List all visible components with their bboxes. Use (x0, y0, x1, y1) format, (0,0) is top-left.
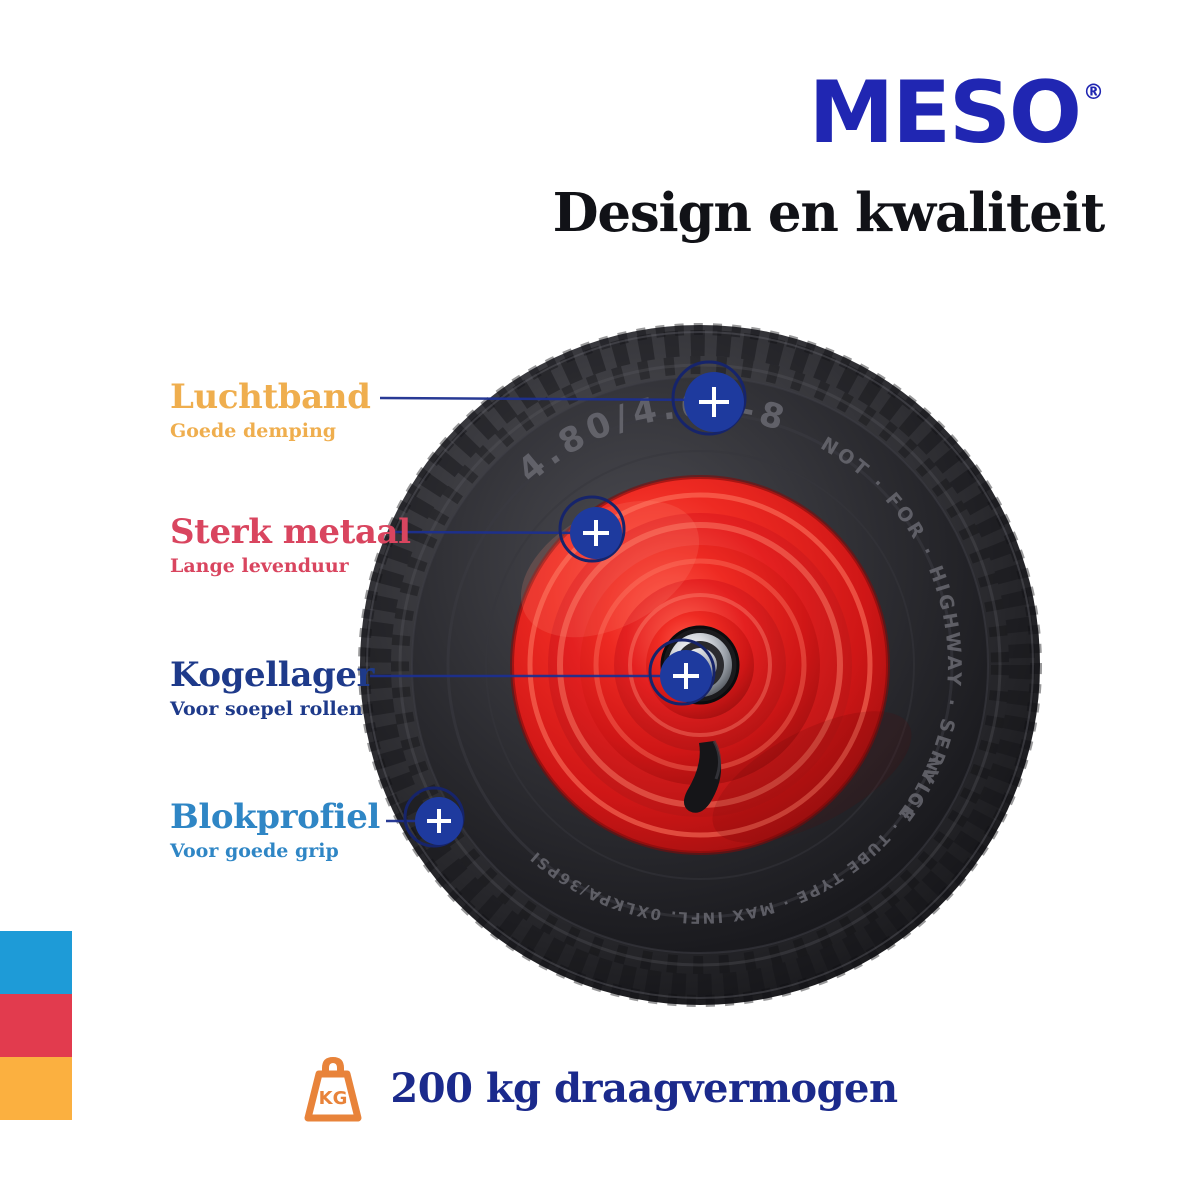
weight-icon: KG (302, 1052, 364, 1124)
feature-callout-blokprofiel: Blokprofiel Voor goede grip (0, 800, 400, 862)
connector-line-luchtband (380, 398, 712, 400)
connector-lines (370, 398, 712, 821)
feature-callout-sterk-metaal: Sterk metaal Lange levenduur (0, 515, 400, 577)
connector-line-sterk-metaal (395, 532, 596, 533)
plus-marker-sterk-metaal[interactable] (560, 497, 624, 561)
weight-icon-label: KG (319, 1088, 348, 1109)
swatch-blue (0, 931, 72, 994)
plus-marker-luchtband[interactable] (673, 362, 745, 434)
swatch-red (0, 994, 72, 1057)
feature-title: Kogellager (170, 658, 400, 693)
feature-title: Sterk metaal (170, 515, 400, 550)
plus-marker-blokprofiel[interactable] (405, 788, 463, 846)
plus-markers (405, 362, 745, 846)
capacity-bar: KG 200 kg draagvermogen (0, 1052, 1200, 1124)
callout-annotations (0, 0, 1200, 1200)
feature-subtitle: Lange levenduur (170, 555, 400, 578)
feature-subtitle: Voor soepel rollen (170, 698, 400, 721)
feature-subtitle: Goede demping (170, 420, 400, 443)
feature-callout-kogellager: Kogellager Voor soepel rollen (0, 658, 400, 720)
feature-title: Luchtband (170, 380, 400, 415)
feature-callout-luchtband: Luchtband Goede demping (0, 380, 400, 442)
feature-subtitle: Voor goede grip (170, 840, 400, 863)
feature-title: Blokprofiel (170, 800, 400, 835)
capacity-text: 200 kg draagvermogen (390, 1065, 897, 1112)
plus-marker-kogellager[interactable] (650, 640, 714, 704)
